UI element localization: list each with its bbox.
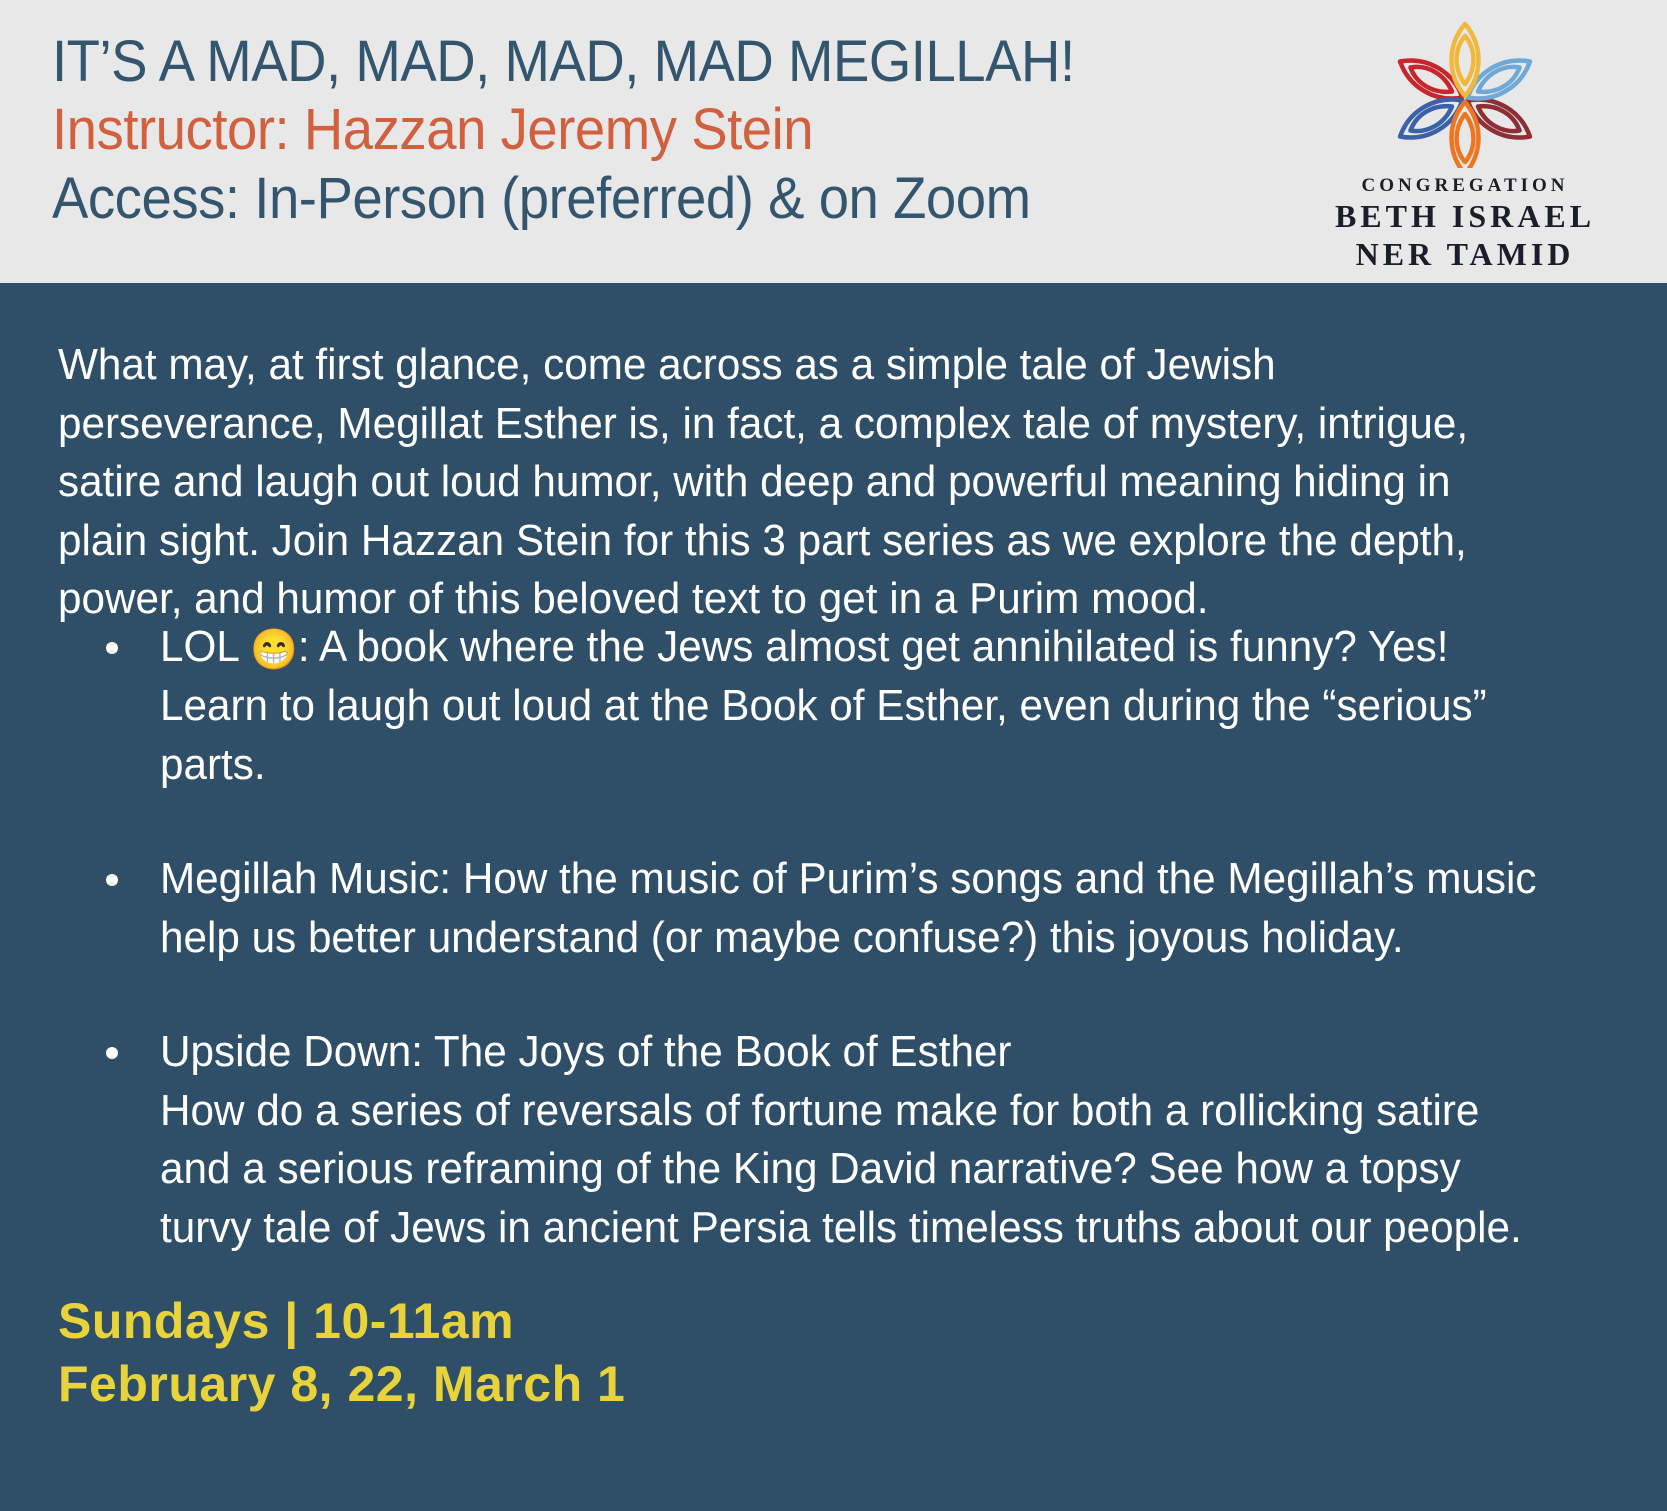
course-session-list: LOL 😁: A book where the Jews almost get … bbox=[58, 618, 1618, 1313]
page-title: IT’S A MAD, MAD, MAD, MAD MEGILLAH! bbox=[52, 28, 1218, 96]
bullet-text-before: LOL bbox=[160, 622, 250, 671]
bullet-dot-icon bbox=[106, 874, 118, 886]
list-item: Upside Down: The Joys of the Book of Est… bbox=[58, 1023, 1618, 1257]
logo-line-congregation: CONGREGATION bbox=[1315, 174, 1615, 198]
list-item-text: Megillah Music: How the music of Purim’s… bbox=[160, 850, 1560, 967]
body-area: What may, at first glance, come across a… bbox=[0, 283, 1667, 1511]
logo-line-ner-tamid: NER TAMID bbox=[1315, 236, 1615, 274]
header-text-block: IT’S A MAD, MAD, MAD, MAD MEGILLAH! Inst… bbox=[52, 28, 1292, 233]
header-bar: IT’S A MAD, MAD, MAD, MAD MEGILLAH! Inst… bbox=[0, 0, 1667, 283]
bullet-text-after: : A book where the Jews almost get annih… bbox=[160, 622, 1487, 789]
logo: CONGREGATION BETH ISRAEL NER TAMID bbox=[1315, 18, 1615, 273]
instructor-line: Instructor: Hazzan Jeremy Stein bbox=[52, 96, 1218, 164]
six-petal-flower-icon bbox=[1390, 18, 1540, 168]
access-line: Access: In-Person (preferred) & on Zoom bbox=[52, 165, 1218, 233]
schedule-block: Sundays | 10-11am February 8, 22, March … bbox=[58, 1290, 625, 1416]
bullet-dot-icon bbox=[106, 1047, 118, 1059]
list-item: LOL 😁: A book where the Jews almost get … bbox=[58, 618, 1618, 794]
list-item: Megillah Music: How the music of Purim’s… bbox=[58, 850, 1618, 967]
list-item-text: Upside Down: The Joys of the Book of Est… bbox=[160, 1023, 1560, 1257]
grinning-face-emoji-icon: 😁 bbox=[250, 628, 298, 672]
intro-paragraph: What may, at first glance, come across a… bbox=[58, 336, 1498, 629]
list-item-text: LOL 😁: A book where the Jews almost get … bbox=[160, 618, 1560, 794]
poster: IT’S A MAD, MAD, MAD, MAD MEGILLAH! Inst… bbox=[0, 0, 1667, 1511]
schedule-time: Sundays | 10-11am bbox=[58, 1290, 625, 1353]
logo-line-beth-israel: BETH ISRAEL bbox=[1315, 198, 1615, 236]
bullet-dot-icon bbox=[106, 642, 118, 654]
schedule-dates: February 8, 22, March 1 bbox=[58, 1353, 625, 1416]
logo-wordmark: CONGREGATION BETH ISRAEL NER TAMID bbox=[1315, 174, 1615, 273]
